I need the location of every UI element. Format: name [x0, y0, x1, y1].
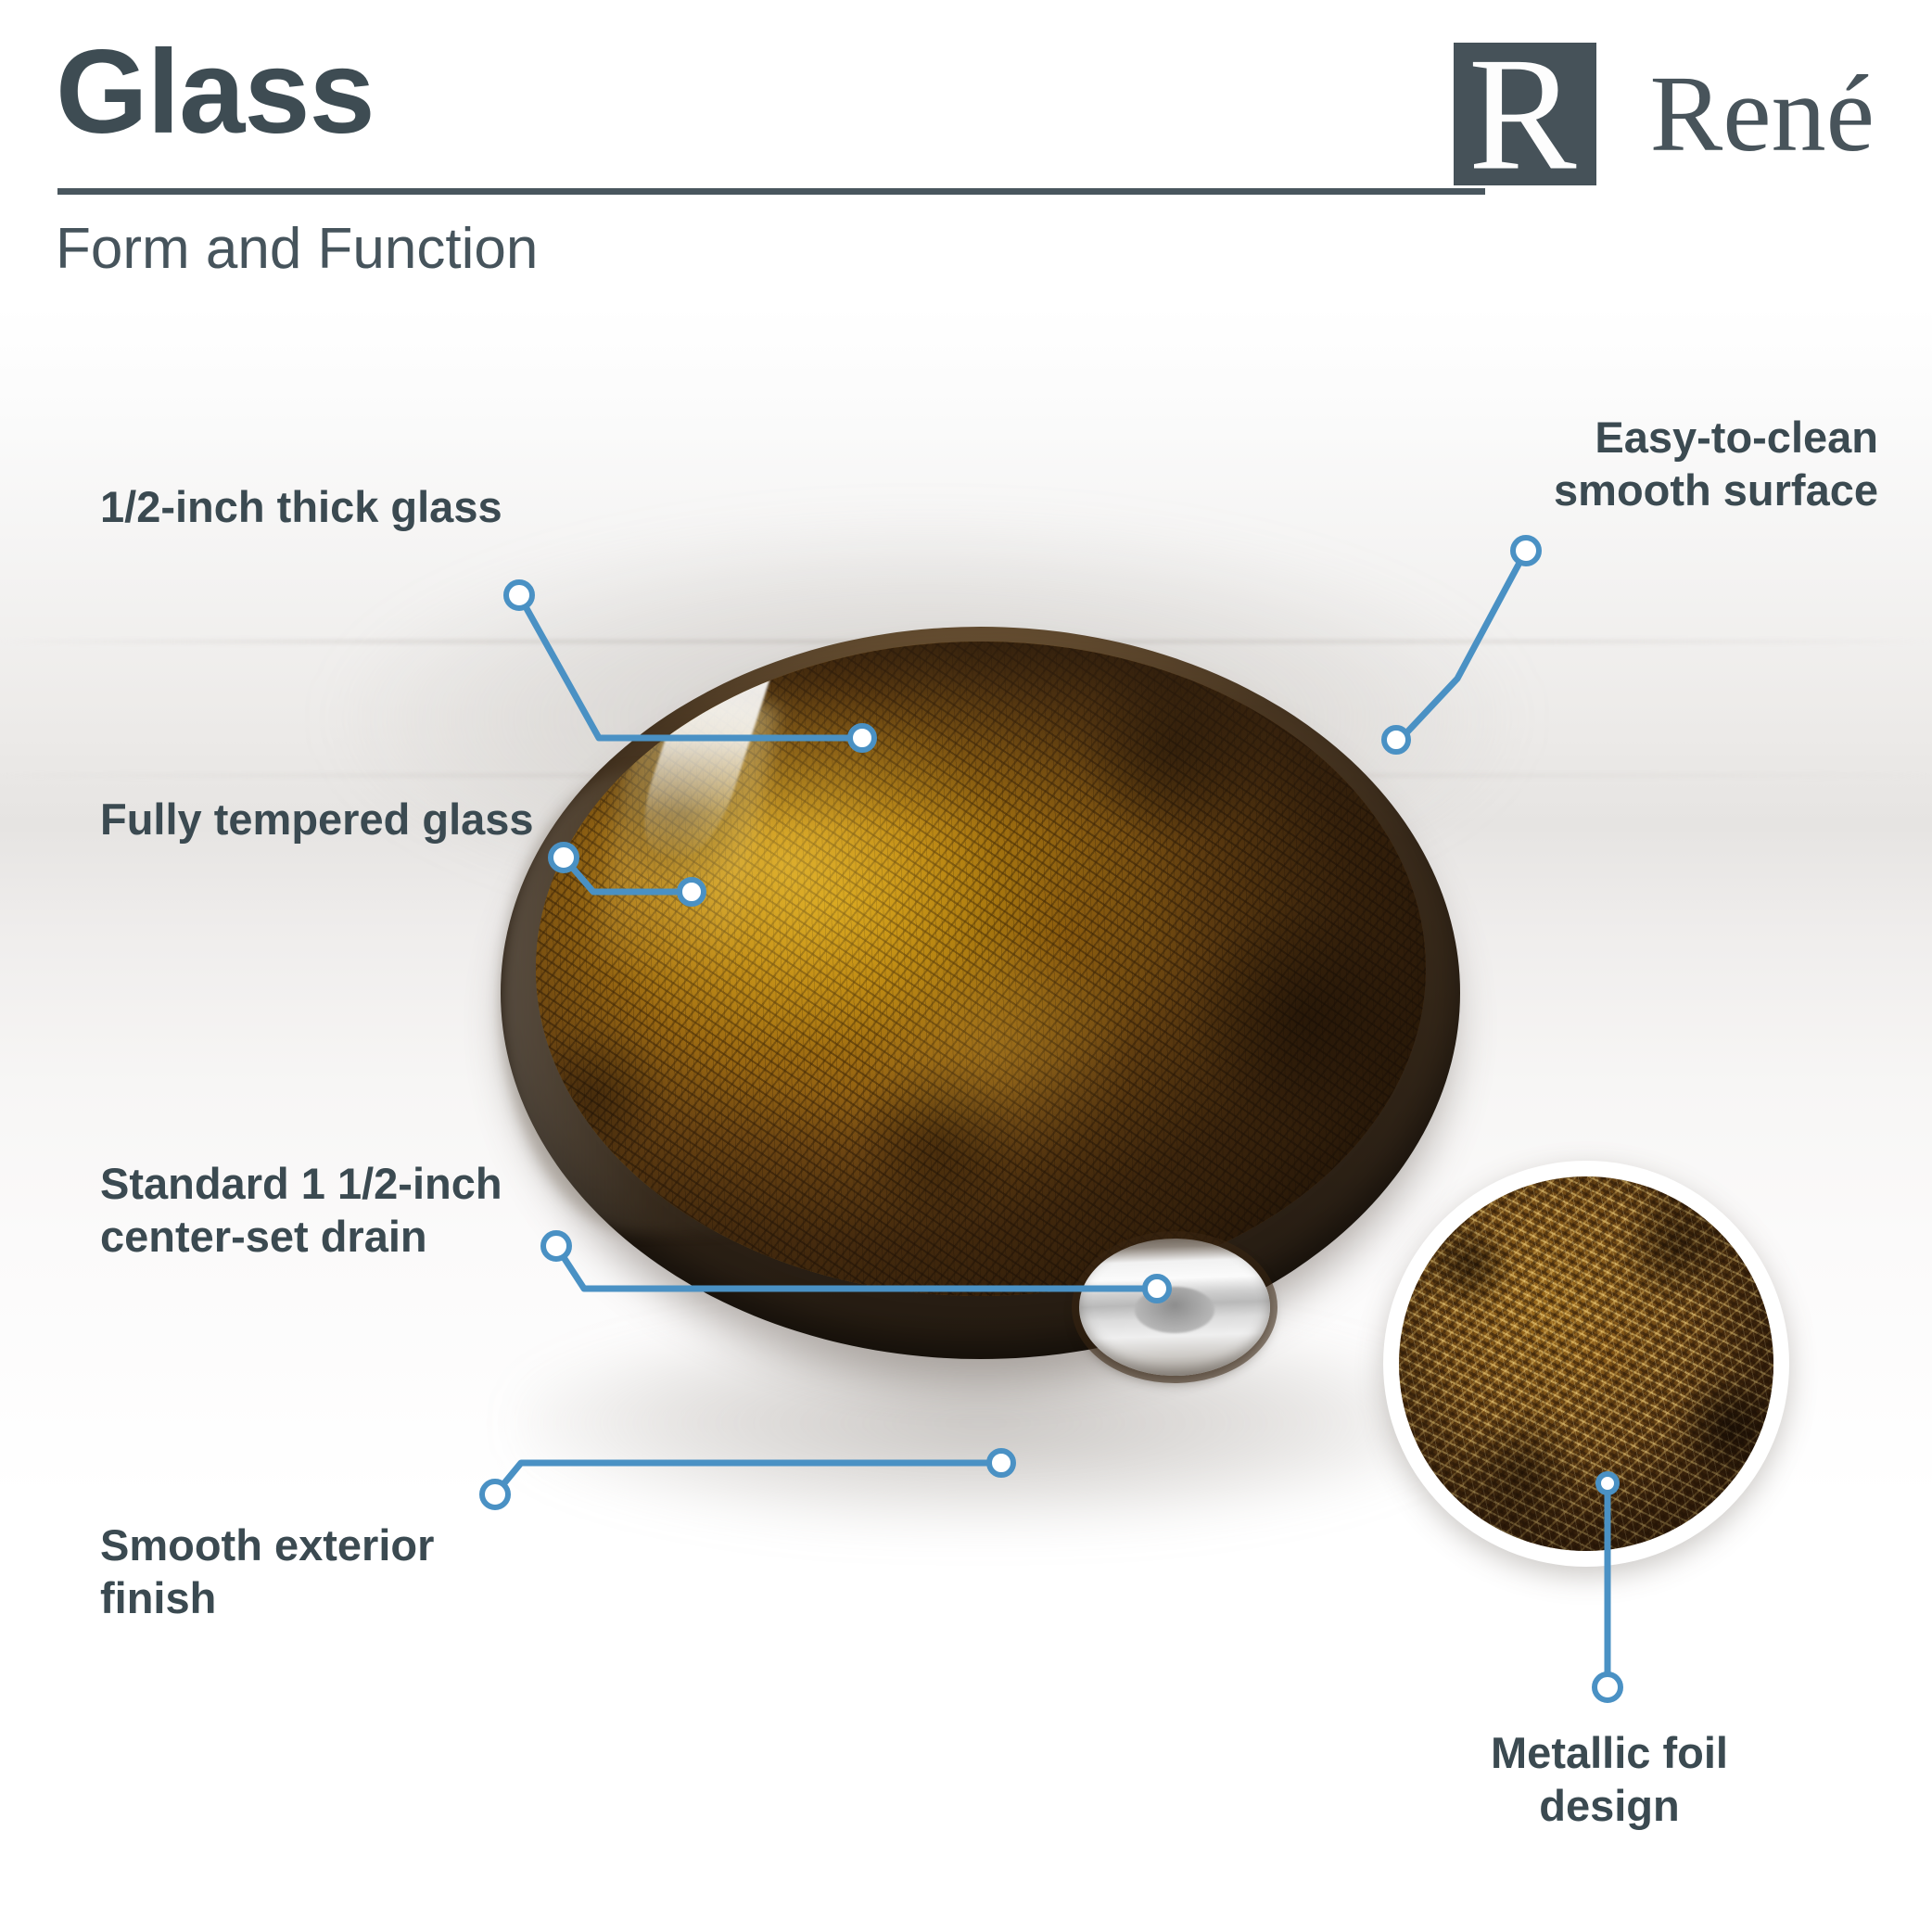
callout-label-smooth-exterior: Smooth exterior finish [100, 1519, 434, 1625]
center-set-drain [1079, 1239, 1270, 1376]
product-image-glass-vessel-sink [0, 0, 1932, 1932]
callout-label-easy-to-clean: Easy-to-clean smooth surface [0, 411, 1878, 517]
foil-vignette [1399, 1176, 1773, 1551]
callout-label-tempered-glass: Fully tempered glass [100, 793, 534, 845]
sink-inner-bowl [536, 642, 1426, 1296]
callout-label-center-set-drain: Standard 1 1/2-inch center-set drain [100, 1157, 502, 1264]
foil-texture-zoom [1399, 1176, 1773, 1551]
drain-center [1135, 1287, 1214, 1333]
callout-label-metallic-foil: Metallic foil design [1239, 1726, 1932, 1833]
metallic-foil-detail-circle [1383, 1161, 1789, 1567]
infographic-page: Glass Form and Function R René [0, 0, 1932, 1932]
